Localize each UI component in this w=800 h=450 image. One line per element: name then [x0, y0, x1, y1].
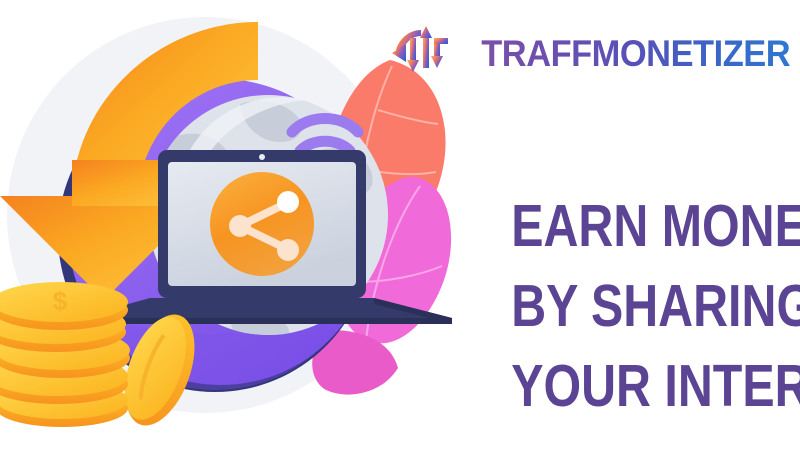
brand-logo[interactable]: TRAFFMONETIZER — [390, 22, 790, 84]
share-icon — [210, 172, 314, 276]
promo-banner: $ — [0, 0, 800, 450]
share-icon-circle — [210, 172, 314, 276]
laptop-base-front — [78, 318, 452, 324]
share-node-top — [277, 191, 299, 213]
coin-1-top: $ — [0, 282, 128, 330]
headline-line-1: EARN MONEY — [511, 186, 790, 266]
headline-line-2: BY SHARING — [511, 266, 790, 346]
laptop-camera — [259, 154, 265, 160]
share-node-bottom — [277, 239, 299, 261]
traffmonetizer-arrows-logo-icon — [390, 22, 452, 84]
share-node-left — [229, 215, 251, 237]
brand-wordmark: TRAFFMONETIZER — [481, 35, 790, 72]
content-column: TRAFFMONETIZER EARN MONEY BY SHARING YOU… — [450, 0, 790, 450]
headline: EARN MONEY BY SHARING YOUR INTERNET — [450, 186, 790, 426]
coin-dollar-symbol: $ — [53, 286, 68, 316]
headline-line-3: YOUR INTERNET — [511, 346, 790, 426]
